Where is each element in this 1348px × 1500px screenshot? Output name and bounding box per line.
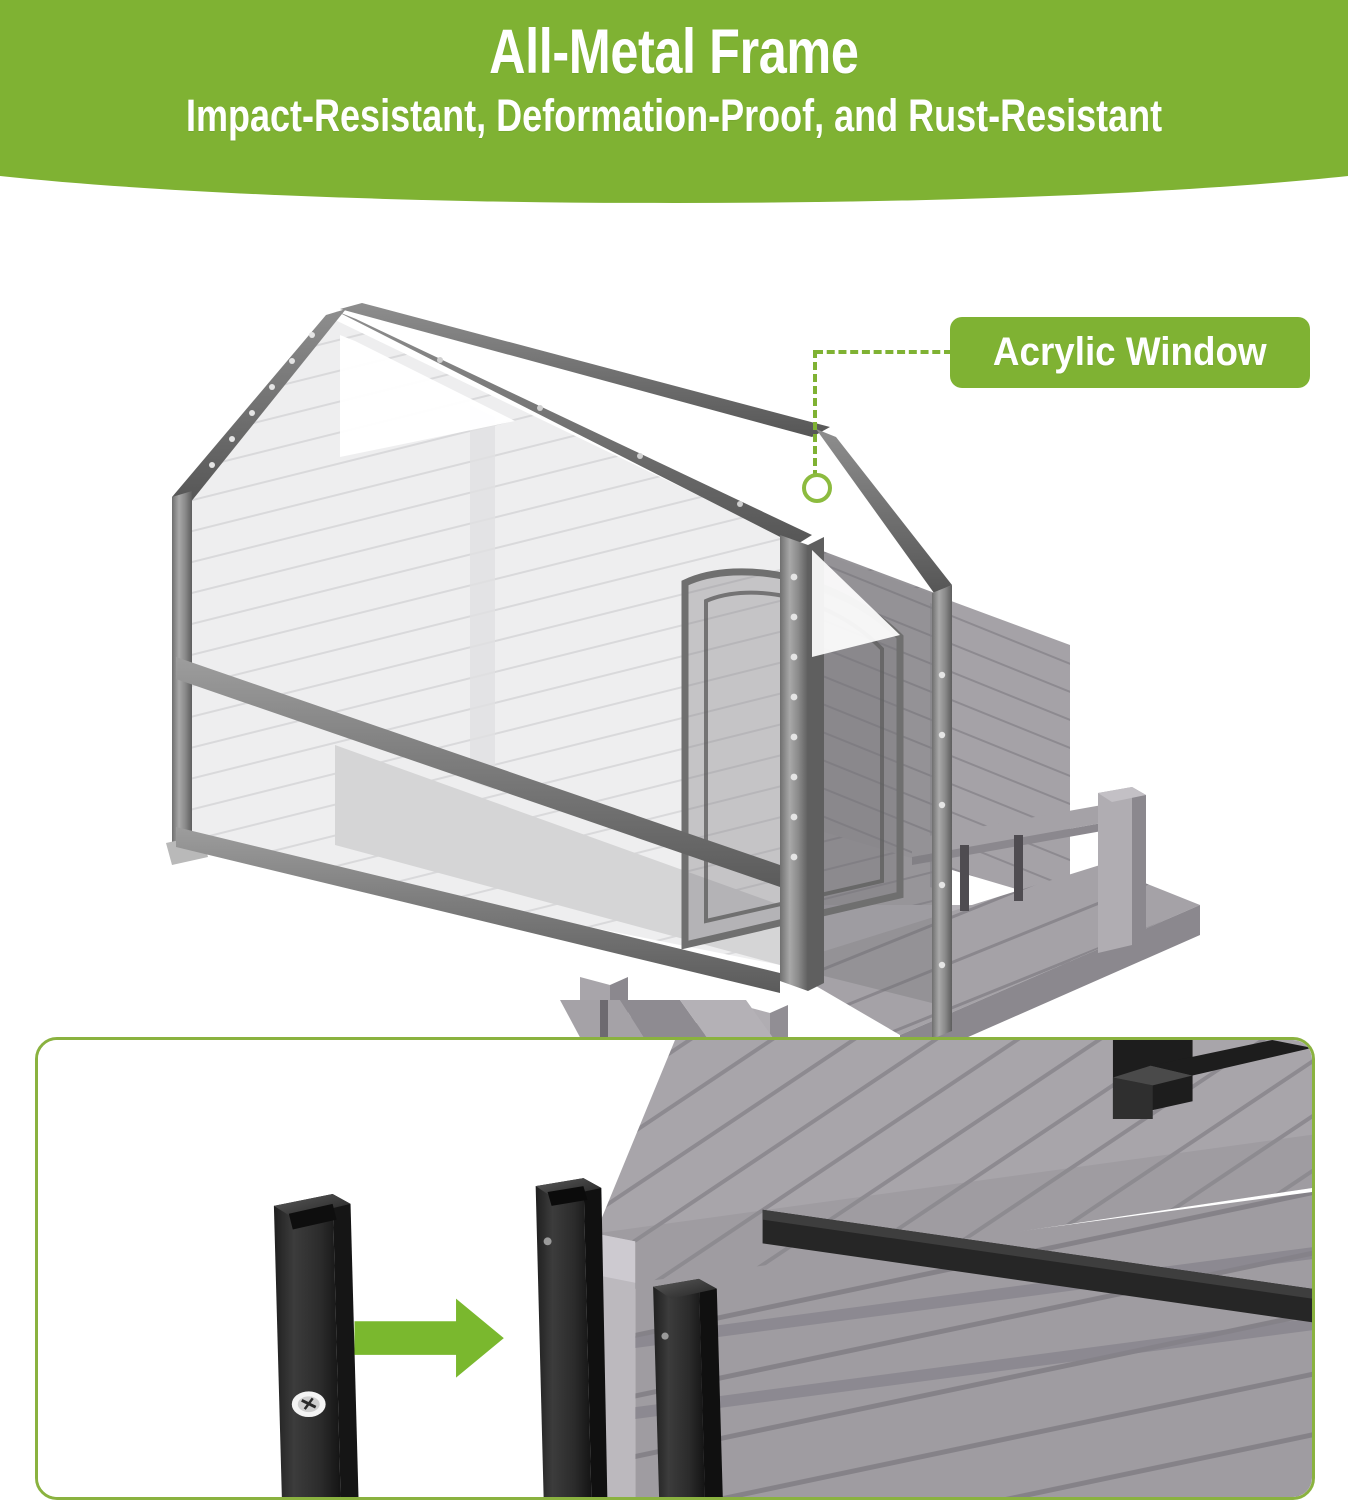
callout-label-text: Acrylic Window [993,330,1267,375]
banner-background-shape [0,0,1348,205]
post-assembly-illustration [38,1040,1312,1497]
callout-label-box[interactable]: Acrylic Window [950,317,1310,388]
post-right [932,585,952,1039]
target-post [536,1178,608,1497]
post-center-corner [780,535,808,991]
assembly-detail-panel [35,1037,1315,1500]
promo-banner: All-Metal Frame Impact-Resistant, Deform… [0,0,1348,205]
loose-post-left [274,1194,359,1497]
mounted-post [653,1279,723,1497]
screw-icon [292,1391,326,1417]
